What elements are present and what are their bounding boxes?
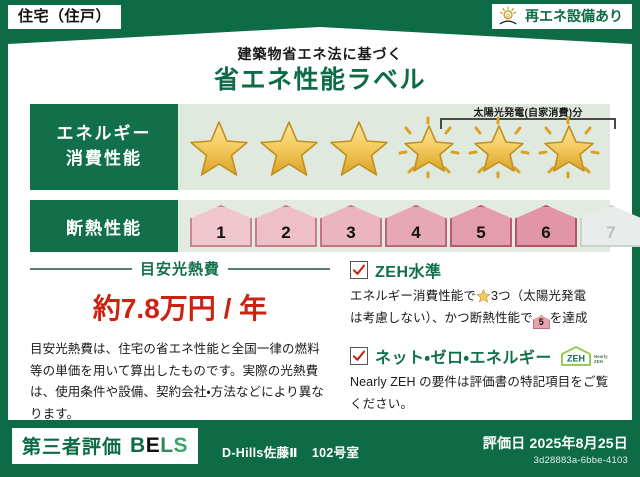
insulation-row-label: 断熱性能 — [30, 200, 178, 252]
evaluation-date: 評価日 2025年8月25日 — [483, 433, 628, 453]
insulation-step-6: 6 — [515, 205, 577, 247]
insulation-step-number: 5 — [476, 223, 485, 243]
insulation-step-number: 1 — [216, 223, 225, 243]
energy-performance-row: エネルギー 消費性能 太陽光発電(自家消費)分 — [30, 104, 610, 190]
utility-cost-heading-text: 目安光熱費 — [140, 258, 220, 279]
net-zero-title: ネット・ゼロ・エネルギー — [375, 344, 552, 368]
insulation-step-2: 2 — [255, 205, 317, 247]
zeh-standard-heading: ZEH水準 — [350, 258, 612, 282]
zeh-desc-part3: を達成 — [550, 311, 588, 325]
zeh-logo-sub-line2: ZEH — [594, 359, 603, 364]
utility-cost-heading: 目安光熱費 — [30, 258, 330, 279]
renewable-equipment-badge: D 再エネ設備あり — [492, 4, 632, 29]
zeh-standard-title: ZEH水準 — [375, 258, 442, 282]
unit-number: 102号室 — [312, 446, 359, 460]
insulation-step-5: 5 — [450, 205, 512, 247]
inline-house-icon: 5 — [533, 315, 550, 329]
star-icon — [257, 115, 321, 179]
zeh-standard-checkbox[interactable] — [350, 261, 368, 279]
energy-row-label-line2: 消費性能 — [66, 147, 142, 172]
insulation-step-3: 3 — [320, 205, 382, 247]
heading-rule-right — [228, 268, 330, 270]
zeh-logo-icon: ZEH Nearly ZEH — [559, 345, 608, 367]
bels-letter-l: L — [160, 434, 173, 457]
heading-rule-left — [30, 268, 132, 270]
bels-letter-b: B — [130, 434, 146, 457]
zeh-standard-description: エネルギー消費性能で3つ（太陽光発電は考慮しない）、かつ断熱性能で5を達成 — [350, 285, 612, 330]
building-name: D-Hills佐藤Ⅱ — [222, 446, 298, 460]
label-footer: 第三者評価 BELS D-Hills佐藤Ⅱ102号室 評価日 2025年8月25… — [0, 420, 640, 477]
utility-cost-note: 目安光熱費は、住宅の省エネ性能と全国一律の燃料等の単価を用いて算出したものです。… — [30, 339, 330, 425]
zeh-desc-star-count: 3つ（太陽光発電 — [491, 289, 586, 303]
svg-text:D: D — [506, 13, 510, 19]
renewable-badge-label: 再エネ設備あり — [525, 8, 623, 24]
zeh-desc-part1: エネルギー消費性能で — [350, 289, 476, 303]
insulation-step-number: 3 — [346, 223, 355, 243]
insulation-house-scale: 1234567 — [190, 200, 600, 252]
label-main-title: 省エネ性能ラベル — [0, 60, 640, 96]
net-zero-heading: ネット・ゼロ・エネルギー ZEH Nearly ZEH — [350, 344, 612, 368]
energy-row-label-line1: エネルギー — [57, 122, 152, 147]
net-zero-checkbox[interactable] — [350, 347, 368, 365]
bels-letter-s: S — [174, 434, 189, 457]
utility-cost-value: 約7.8万円 / 年 — [30, 287, 330, 327]
insulation-step-1: 1 — [190, 205, 252, 247]
zeh-desc-part2: は考慮しない）、かつ断熱性能で — [350, 311, 533, 325]
insulation-step-number: 2 — [281, 223, 290, 243]
star-icon-solar — [537, 115, 601, 179]
star-icon — [187, 115, 251, 179]
building-identification: D-Hills佐藤Ⅱ102号室 — [222, 442, 359, 461]
evaluation-id: 3d28883a-6bbe-4103 — [483, 455, 628, 466]
insulation-step-number: 6 — [541, 223, 550, 243]
insulation-step-number: 7 — [606, 223, 615, 243]
insulation-scale-area: 1234567 — [178, 200, 610, 252]
insulation-step-7: 7 — [580, 205, 640, 247]
utility-cost-section: 目安光熱費 約7.8万円 / 年 目安光熱費は、住宅の省エネ性能と全国一律の燃料… — [30, 258, 330, 425]
solar-sun-icon: D — [498, 6, 520, 26]
zeh-section: ZEH水準 エネルギー消費性能で3つ（太陽光発電は考慮しない）、かつ断熱性能で5… — [350, 258, 612, 415]
zeh-logo-subtext: Nearly ZEH — [594, 355, 608, 366]
insulation-step-4: 4 — [385, 205, 447, 247]
svg-text:ZEH: ZEH — [567, 353, 585, 363]
energy-row-label: エネルギー 消費性能 — [30, 104, 178, 190]
inline-star-icon — [476, 288, 491, 303]
star-icon-solar — [467, 115, 531, 179]
evaluation-info: 評価日 2025年8月25日 3d28883a-6bbe-4103 — [483, 433, 628, 466]
energy-performance-label: 住宅（住戸） D 再エネ設備あり 建築物 — [0, 0, 640, 477]
bels-letter-e: E — [146, 434, 161, 457]
net-zero-description: Nearly ZEH の要件は評価書の特記項目をご覧ください。 — [350, 371, 612, 416]
inline-house-number: 5 — [533, 315, 550, 329]
insulation-performance-row: 断熱性能 1234567 — [30, 200, 610, 252]
star-icon-solar — [397, 115, 461, 179]
star-rating — [184, 104, 604, 190]
insulation-step-number: 4 — [411, 223, 420, 243]
bels-wordmark: BELS — [130, 434, 188, 458]
third-party-evaluation-label: 第三者評価 — [22, 432, 122, 459]
bels-logo: 第三者評価 BELS — [12, 428, 198, 464]
category-tag: 住宅（住戸） — [8, 5, 121, 29]
energy-star-area: 太陽光発電(自家消費)分 — [178, 104, 610, 190]
star-icon — [327, 115, 391, 179]
